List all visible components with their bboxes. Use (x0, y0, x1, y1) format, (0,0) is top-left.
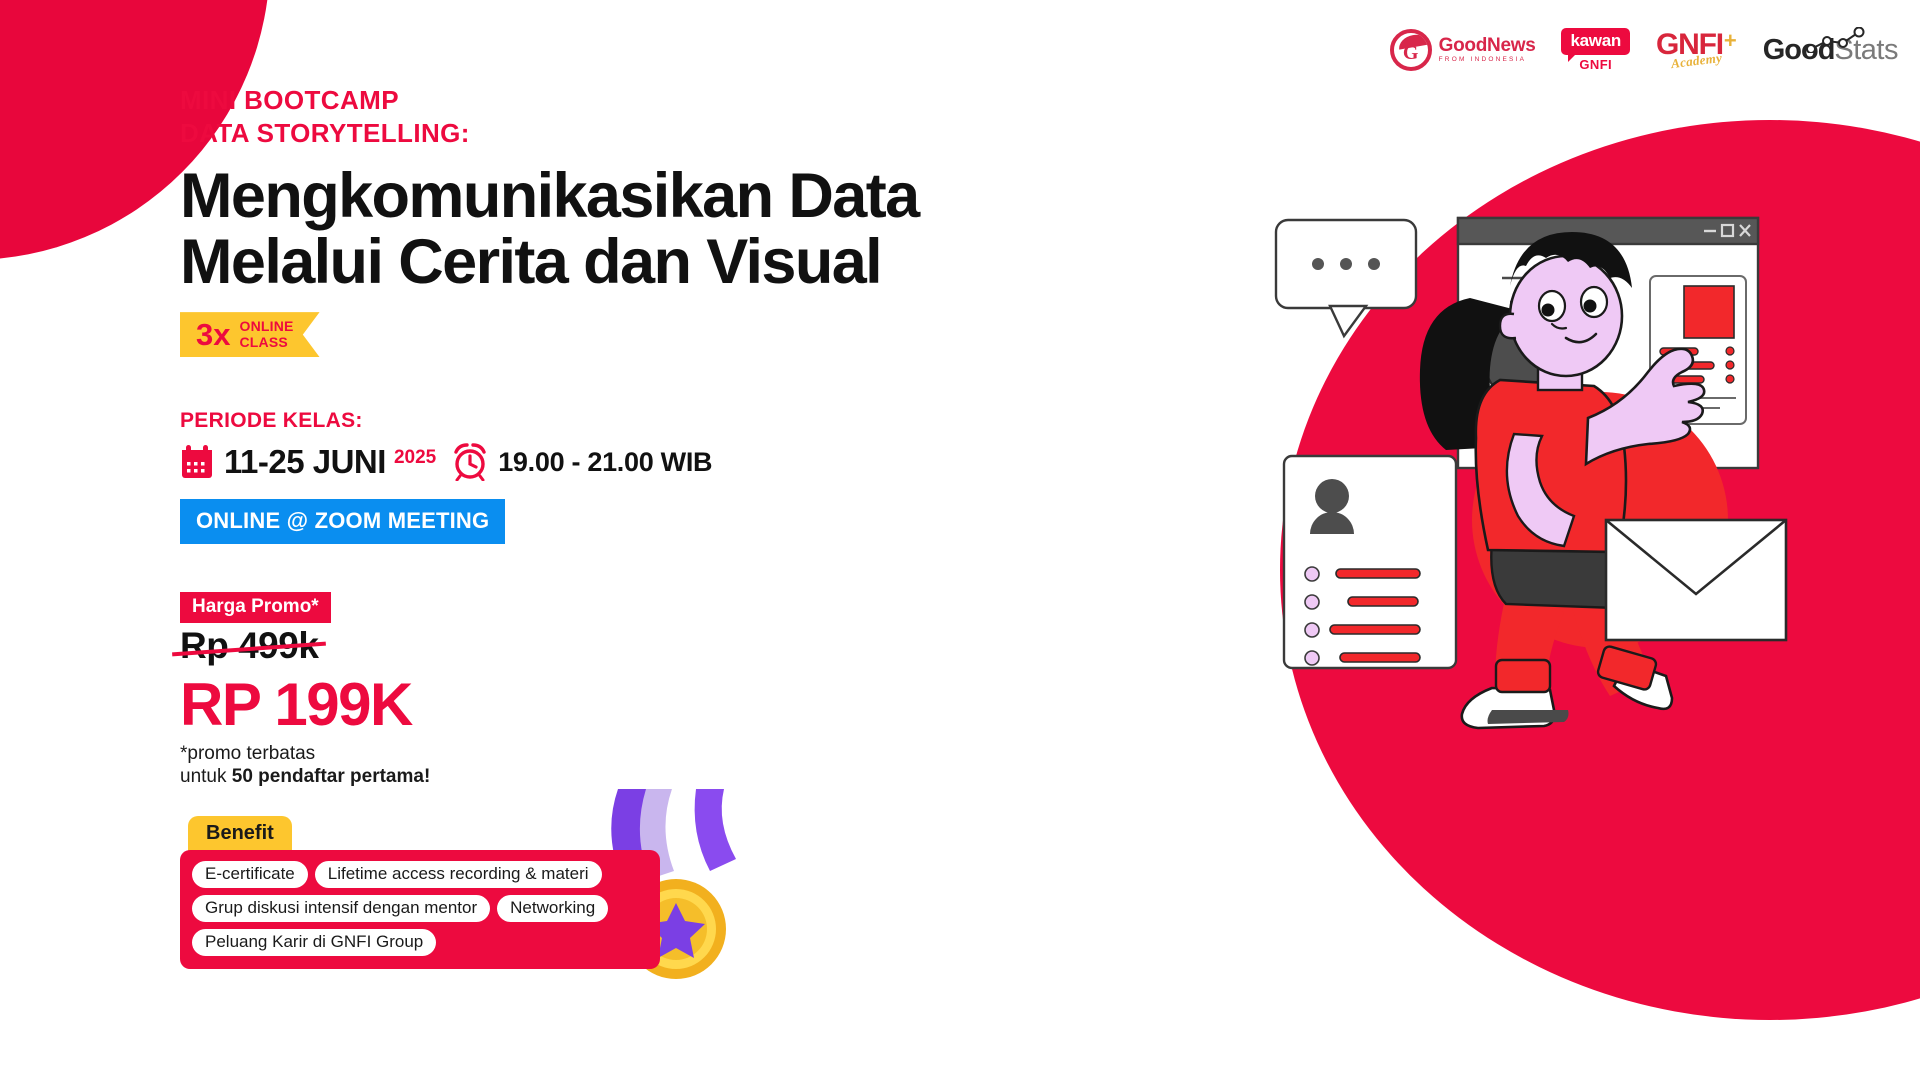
kawan-gnfi-label: GNFI (1579, 57, 1612, 72)
class-label-line-1: ONLINE (239, 319, 293, 334)
promo-tag: Harga Promo* (180, 592, 331, 623)
class-count: 3x (196, 319, 230, 350)
envelope-icon (1606, 520, 1786, 640)
eyebrow-line-2: DATA STORYTELLING: (180, 117, 1140, 150)
headline-line-1: Mengkomunikasikan Data (180, 163, 1140, 230)
logo-gnfi-academy: GNFI + Academy (1656, 31, 1737, 69)
logo-kawan-gnfi: kawan GNFI (1561, 28, 1629, 72)
disclaimer-plain: untuk (180, 766, 232, 787)
disclaimer-line-1: *promo terbatas (180, 742, 1140, 765)
class-date: 11-25 JUNI (224, 443, 386, 481)
goodnews-name: GoodNews (1439, 36, 1536, 55)
class-year: 2025 (394, 447, 436, 469)
page-title: Mengkomunikasikan Data Melalui Cerita da… (180, 163, 1140, 297)
disclaimer-bold: 50 pendaftar pertama! (232, 766, 431, 787)
calendar-icon (180, 444, 214, 480)
main-content: MINI BOOTCAMP DATA STORYTELLING: Mengkom… (180, 0, 1140, 969)
alarm-clock-icon (452, 443, 488, 481)
promo-price: RP 199K (180, 673, 1140, 736)
class-label: ONLINE CLASS (239, 319, 293, 349)
class-label-line-2: CLASS (239, 335, 293, 350)
location-banner: ONLINE @ ZOOM MEETING (180, 499, 505, 544)
benefits-list: E-certificate Lifetime access recording … (180, 850, 660, 969)
profile-card-icon (1284, 456, 1456, 668)
goodnews-tagline: FROM INDONESIA (1439, 57, 1536, 64)
goodnews-emblem-icon: G (1390, 29, 1432, 71)
data-storytelling-illustration (1270, 190, 1890, 795)
goodnews-g-letter: G (1403, 43, 1419, 63)
goodnews-wordmark: GoodNews FROM INDONESIA (1439, 36, 1536, 64)
benefits-tab: Benefit (188, 816, 292, 852)
gnfi-plus-icon: + (1724, 31, 1737, 52)
eyebrow-line-1: MINI BOOTCAMP (180, 84, 1140, 117)
eyebrow-heading: MINI BOOTCAMP DATA STORYTELLING: (180, 84, 1140, 151)
logo-goodnews: G GoodNews FROM INDONESIA (1390, 29, 1536, 71)
online-class-badge: 3x ONLINE CLASS (180, 312, 320, 357)
benefit-pill: Networking (497, 895, 608, 922)
period-label: PERIODE KELAS: (180, 409, 1140, 433)
headline-line-2: Melalui Cerita dan Visual (180, 229, 1140, 296)
class-time: 19.00 - 21.00 WIB (498, 447, 712, 478)
schedule-row: 11-25 JUNI 2025 19.00 - 21.00 WIB (180, 443, 1140, 481)
benefits-section: Benefit E-certificate Lifetime access re… (180, 816, 660, 969)
benefit-pill: Lifetime access recording & materi (315, 861, 602, 888)
speech-bubble-icon (1276, 220, 1416, 336)
benefit-pill: Peluang Karir di GNFI Group (192, 929, 436, 956)
benefit-pill: E-certificate (192, 861, 308, 888)
benefit-pill: Grup diskusi intensif dengan mentor (192, 895, 490, 922)
kawan-speech-bubble-icon: kawan (1561, 28, 1629, 55)
logo-goodstats: Good Stats (1763, 36, 1898, 65)
goodstats-linechart-icon (1805, 27, 1867, 53)
original-price: Rp 499k (180, 625, 318, 667)
partner-logo-bar: G GoodNews FROM INDONESIA kawan GNFI GNF… (1390, 28, 1898, 72)
